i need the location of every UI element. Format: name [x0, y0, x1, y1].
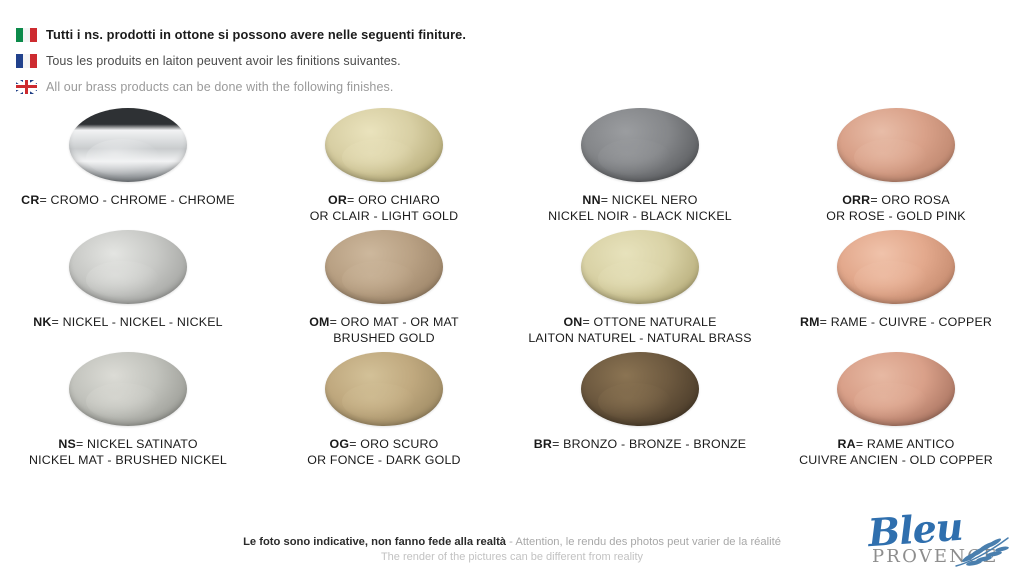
- intro-text-french: Tous les produits en laiton peuvent avoi…: [46, 54, 401, 68]
- finish-name-line1: = ORO MAT - OR MAT: [330, 315, 459, 329]
- footer-text-italian: Le foto sono indicative, non fanno fede …: [243, 536, 506, 548]
- flag-france-icon: [16, 54, 37, 68]
- swatch-highlight: [342, 261, 415, 298]
- finish-label-line1: RM= RAME - CUIVRE - COPPER: [800, 314, 992, 330]
- finish-label: CR= CROMO - CHROME - CHROME: [21, 192, 235, 208]
- finish-row-2: NK= NICKEL - NICKEL - NICKELOM= ORO MAT …: [0, 228, 1024, 350]
- swatch-highlight: [854, 383, 927, 420]
- finish-code: RM: [800, 315, 820, 329]
- finish-label-line1: NS= NICKEL SATINATO: [29, 436, 227, 452]
- finish-code: NK: [33, 315, 51, 329]
- intro-header: Tutti i ns. prodotti in ottone si posson…: [16, 24, 716, 102]
- finish-label: ON= OTTONE NATURALELAITON NATUREL - NATU…: [528, 314, 751, 347]
- swatch-rm-copper[interactable]: [837, 230, 955, 304]
- finish-label-line1: BR= BRONZO - BRONZE - BRONZE: [534, 436, 746, 452]
- swatch-orr-gold-pink[interactable]: [837, 108, 955, 182]
- finish-name-line1: = NICKEL - NICKEL - NICKEL: [52, 315, 223, 329]
- finish-label-line1: ON= OTTONE NATURALE: [528, 314, 751, 330]
- swatch-nn-black-nickel[interactable]: [581, 108, 699, 182]
- swatch-wrap: [768, 106, 1024, 184]
- finish-cell[interactable]: NK= NICKEL - NICKEL - NICKEL: [0, 228, 256, 350]
- intro-text-italian: Tutti i ns. prodotti in ottone si posson…: [46, 27, 466, 42]
- finish-label: RM= RAME - CUIVRE - COPPER: [800, 314, 992, 330]
- swatch-highlight: [86, 139, 159, 176]
- finish-name-line1: = ORO SCURO: [349, 437, 438, 451]
- finish-label: NS= NICKEL SATINATONICKEL MAT - BRUSHED …: [29, 436, 227, 469]
- finish-code: ON: [563, 315, 582, 329]
- intro-text-english: All our brass products can be done with …: [46, 80, 393, 94]
- finish-name-line1: = ORO CHIARO: [347, 193, 440, 207]
- swatch-nk-nickel[interactable]: [69, 230, 187, 304]
- finish-label-line2: BRUSHED GOLD: [309, 330, 459, 346]
- finish-label-line2: NICKEL MAT - BRUSHED NICKEL: [29, 452, 227, 468]
- finish-label-line1: NK= NICKEL - NICKEL - NICKEL: [33, 314, 223, 330]
- finish-cell[interactable]: BR= BRONZO - BRONZE - BRONZE: [512, 350, 768, 482]
- swatch-wrap: [256, 228, 512, 306]
- swatch-og-dark-gold[interactable]: [325, 352, 443, 426]
- finish-label: NN= NICKEL NERONICKEL NOIR - BLACK NICKE…: [548, 192, 732, 225]
- finish-code: ORR: [842, 193, 870, 207]
- finish-label-line2: OR FONCE - DARK GOLD: [307, 452, 460, 468]
- swatch-highlight: [86, 261, 159, 298]
- finish-name-line1: = NICKEL NERO: [601, 193, 698, 207]
- finish-cell[interactable]: NN= NICKEL NERONICKEL NOIR - BLACK NICKE…: [512, 106, 768, 228]
- intro-line-english: All our brass products can be done with …: [16, 76, 716, 97]
- finish-name-line1: = BRONZO - BRONZE - BRONZE: [552, 437, 746, 451]
- swatch-wrap: [0, 350, 256, 428]
- swatch-wrap: [768, 350, 1024, 428]
- finish-label-line1: ORR= ORO ROSA: [826, 192, 965, 208]
- finish-code: OM: [309, 315, 329, 329]
- swatch-ns-brushed-nickel[interactable]: [69, 352, 187, 426]
- finish-label: OM= ORO MAT - OR MATBRUSHED GOLD: [309, 314, 459, 347]
- finish-cell[interactable]: OM= ORO MAT - OR MATBRUSHED GOLD: [256, 228, 512, 350]
- flag-italy-icon: [16, 28, 37, 42]
- swatch-wrap: [512, 350, 768, 428]
- finish-cell[interactable]: NS= NICKEL SATINATONICKEL MAT - BRUSHED …: [0, 350, 256, 482]
- bleu-provence-logo: Bleu PROVENCE: [862, 505, 1012, 571]
- finish-code: RA: [838, 437, 856, 451]
- finish-code: NN: [582, 193, 600, 207]
- finish-label: NK= NICKEL - NICKEL - NICKEL: [33, 314, 223, 330]
- finish-cell[interactable]: CR= CROMO - CHROME - CHROME: [0, 106, 256, 228]
- finish-code: OR: [328, 193, 347, 207]
- finish-code: CR: [21, 193, 39, 207]
- swatch-br-bronze[interactable]: [581, 352, 699, 426]
- finish-code: NS: [58, 437, 76, 451]
- swatch-wrap: [0, 106, 256, 184]
- finish-cell[interactable]: OR= ORO CHIAROOR CLAIR - LIGHT GOLD: [256, 106, 512, 228]
- finish-code: BR: [534, 437, 552, 451]
- swatch-highlight: [598, 383, 671, 420]
- finish-name-line1: = ORO ROSA: [870, 193, 949, 207]
- footer-text-french: - Attention, le rendu des photos peut va…: [506, 536, 781, 548]
- finish-cell[interactable]: RM= RAME - CUIVRE - COPPER: [768, 228, 1024, 350]
- finish-label-line1: OM= ORO MAT - OR MAT: [309, 314, 459, 330]
- finish-cell[interactable]: ON= OTTONE NATURALELAITON NATUREL - NATU…: [512, 228, 768, 350]
- finish-label-line2: LAITON NATUREL - NATURAL BRASS: [528, 330, 751, 346]
- finish-label-line1: NN= NICKEL NERO: [548, 192, 732, 208]
- finish-cell[interactable]: RA= RAME ANTICOCUIVRE ANCIEN - OLD COPPE…: [768, 350, 1024, 482]
- finish-name-line1: = RAME ANTICO: [856, 437, 955, 451]
- swatch-highlight: [86, 383, 159, 420]
- swatch-wrap: [256, 106, 512, 184]
- finish-label-line2: CUIVRE ANCIEN - OLD COPPER: [799, 452, 993, 468]
- finish-label: ORR= ORO ROSAOR ROSE - GOLD PINK: [826, 192, 965, 225]
- swatch-ra-old-copper[interactable]: [837, 352, 955, 426]
- finish-name-line1: = CROMO - CHROME - CHROME: [39, 193, 234, 207]
- intro-line-italian: Tutti i ns. prodotti in ottone si posson…: [16, 24, 716, 45]
- finish-name-line1: = RAME - CUIVRE - COPPER: [820, 315, 992, 329]
- finish-row-3: NS= NICKEL SATINATONICKEL MAT - BRUSHED …: [0, 350, 1024, 482]
- swatch-or-light-gold[interactable]: [325, 108, 443, 182]
- finish-name-line1: = NICKEL SATINATO: [76, 437, 198, 451]
- finish-code: OG: [330, 437, 350, 451]
- swatch-wrap: [0, 228, 256, 306]
- finish-label-line1: OG= ORO SCURO: [307, 436, 460, 452]
- swatch-wrap: [256, 350, 512, 428]
- swatch-wrap: [512, 228, 768, 306]
- finish-label: BR= BRONZO - BRONZE - BRONZE: [534, 436, 746, 452]
- finish-label: OG= ORO SCUROOR FONCE - DARK GOLD: [307, 436, 460, 469]
- flag-uk-icon: [16, 80, 37, 94]
- swatch-om-brushed-gold[interactable]: [325, 230, 443, 304]
- finish-label: RA= RAME ANTICOCUIVRE ANCIEN - OLD COPPE…: [799, 436, 993, 469]
- intro-line-french: Tous les produits en laiton peuvent avoi…: [16, 50, 716, 71]
- finish-label-line2: NICKEL NOIR - BLACK NICKEL: [548, 208, 732, 224]
- swatch-wrap: [768, 228, 1024, 306]
- finish-row-1: CR= CROMO - CHROME - CHROMEOR= ORO CHIAR…: [0, 106, 1024, 228]
- swatch-highlight: [342, 383, 415, 420]
- finish-label-line1: CR= CROMO - CHROME - CHROME: [21, 192, 235, 208]
- finish-cell[interactable]: OG= ORO SCUROOR FONCE - DARK GOLD: [256, 350, 512, 482]
- finish-label-line1: RA= RAME ANTICO: [799, 436, 993, 452]
- finish-label-line1: OR= ORO CHIARO: [310, 192, 459, 208]
- swatch-on-natural-brass[interactable]: [581, 230, 699, 304]
- swatch-highlight: [854, 261, 927, 298]
- swatch-cr-chrome[interactable]: [69, 108, 187, 182]
- swatch-wrap: [512, 106, 768, 184]
- finish-label: OR= ORO CHIAROOR CLAIR - LIGHT GOLD: [310, 192, 459, 225]
- swatch-highlight: [598, 139, 671, 176]
- finish-label-line2: OR CLAIR - LIGHT GOLD: [310, 208, 459, 224]
- olive-branch-icon: [954, 535, 1010, 569]
- finish-label-line2: OR ROSE - GOLD PINK: [826, 208, 965, 224]
- finish-grid: CR= CROMO - CHROME - CHROMEOR= ORO CHIAR…: [0, 106, 1024, 482]
- swatch-highlight: [342, 139, 415, 176]
- swatch-highlight: [854, 139, 927, 176]
- finish-cell[interactable]: ORR= ORO ROSAOR ROSE - GOLD PINK: [768, 106, 1024, 228]
- finish-name-line1: = OTTONE NATURALE: [582, 315, 716, 329]
- swatch-highlight: [598, 261, 671, 298]
